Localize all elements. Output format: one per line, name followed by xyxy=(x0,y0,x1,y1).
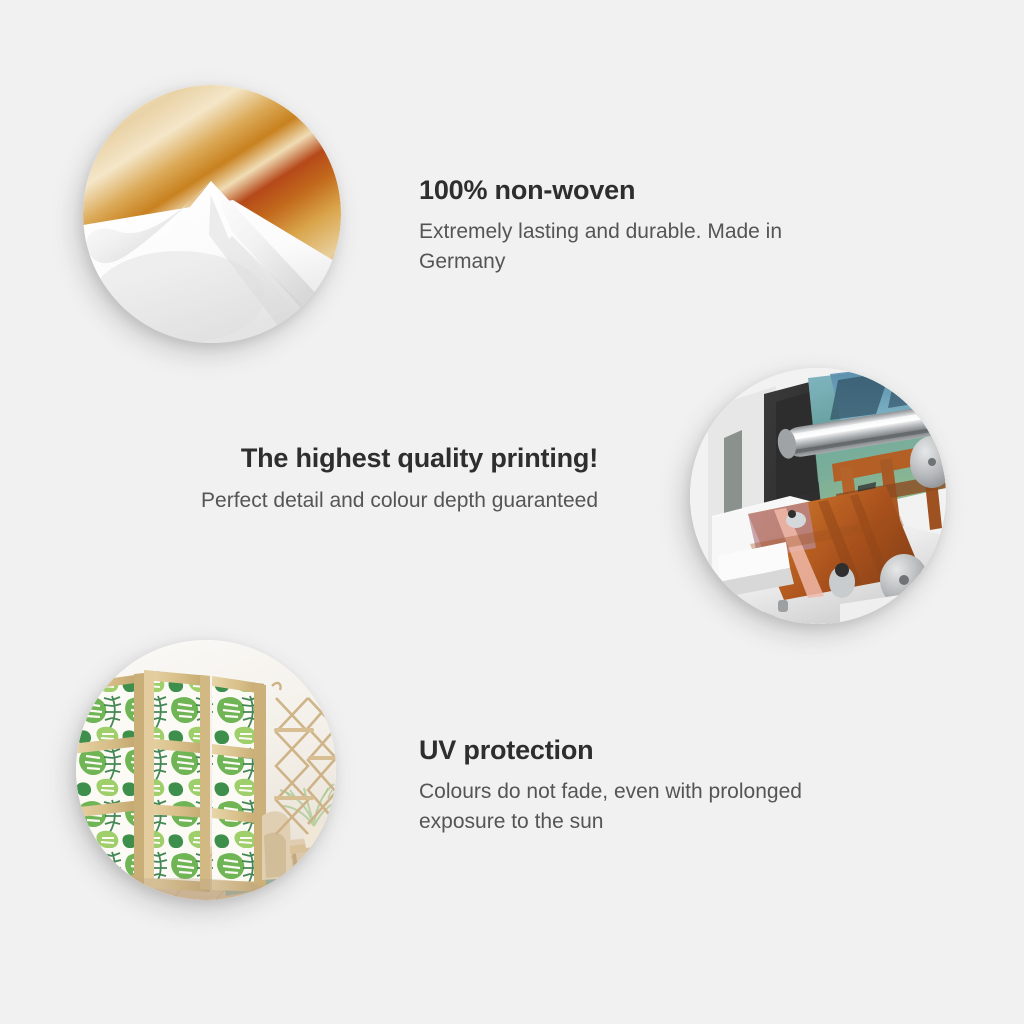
feature-body-printing: Perfect detail and colour depth guarante… xyxy=(198,486,598,516)
feature-text-printing: The highest quality printing! Perfect de… xyxy=(198,443,598,516)
feature-text-uv: UV protection Colours do not fade, even … xyxy=(419,735,819,837)
feature-body-uv: Colours do not fade, even with prolonged… xyxy=(419,777,819,837)
feature-heading-printing: The highest quality printing! xyxy=(198,443,598,474)
feature-heading-uv: UV protection xyxy=(419,735,819,766)
feature-body-nonwoven: Extremely lasting and durable. Made in G… xyxy=(419,217,859,277)
feature-heading-nonwoven: 100% non-woven xyxy=(419,175,859,206)
printing-press-image xyxy=(690,368,946,624)
feature-text-nonwoven: 100% non-woven Extremely lasting and dur… xyxy=(419,175,859,277)
room-divider-image xyxy=(76,640,336,900)
infographic-canvas: 100% non-woven Extremely lasting and dur… xyxy=(0,0,1024,1024)
wallpaper-peel-image xyxy=(83,85,341,343)
